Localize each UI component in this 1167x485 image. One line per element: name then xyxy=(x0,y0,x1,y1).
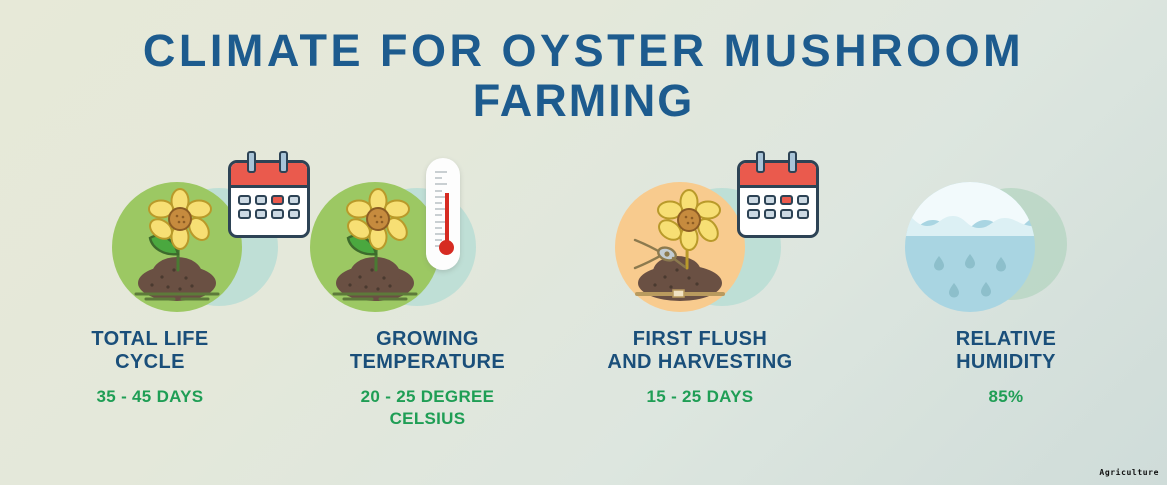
calendar-cell xyxy=(764,209,777,219)
heading-line-1: GROWING xyxy=(300,328,555,351)
heading-line-1: FIRST FLUSH xyxy=(555,328,845,351)
cloud-raindrops xyxy=(905,182,1035,312)
pruning-shears-flower-icon xyxy=(615,182,745,312)
label-heading: FIRST FLUSH AND HARVESTING xyxy=(555,328,845,374)
rain-cloud-humidity-icon xyxy=(905,182,1035,312)
label-heading: GROWING TEMPERATURE xyxy=(300,328,555,374)
label-relative-humidity: RELATIVE HUMIDITY 85% xyxy=(845,328,1167,430)
icon-row xyxy=(0,140,1167,340)
title-line-1: CLIMATE FOR OYSTER MUSHROOM xyxy=(0,26,1167,76)
calendar-cell xyxy=(747,209,760,219)
heading-line-2: HUMIDITY xyxy=(845,351,1167,374)
label-first-flush: FIRST FLUSH AND HARVESTING 15 - 25 DAYS xyxy=(555,328,845,430)
label-row: TOTAL LIFE CYCLE 35 - 45 DAYS GROWING TE… xyxy=(0,328,1167,430)
heading-line-2: TEMPERATURE xyxy=(300,351,555,374)
calendar-cell xyxy=(797,209,810,219)
calendar-icon xyxy=(228,160,310,238)
calendar-cell xyxy=(764,195,777,205)
heading-line-2: CYCLE xyxy=(0,351,300,374)
icon-cluster-growing-temperature xyxy=(300,140,555,340)
label-heading: TOTAL LIFE CYCLE xyxy=(0,328,300,374)
page-title: CLIMATE FOR OYSTER MUSHROOM FARMING xyxy=(0,0,1167,126)
value-line-2: CELSIUS xyxy=(300,408,555,430)
calendar-ring xyxy=(788,151,797,173)
calendar-ring xyxy=(247,151,256,173)
calendar-cell xyxy=(238,209,251,219)
label-value: 85% xyxy=(845,386,1167,408)
calendar-grid xyxy=(231,188,307,225)
calendar-cell xyxy=(238,195,251,205)
calendar-body xyxy=(737,160,819,238)
seedling-flower-icon xyxy=(112,182,242,312)
calendar-cell-highlight xyxy=(271,195,284,205)
calendar-cell xyxy=(271,209,284,219)
label-growing-temperature: GROWING TEMPERATURE 20 - 25 DEGREE CELSI… xyxy=(300,328,555,430)
value-line-1: 20 - 25 DEGREE xyxy=(300,386,555,408)
icon-cluster-total-life-cycle xyxy=(0,140,300,340)
label-value: 15 - 25 DAYS xyxy=(555,386,845,408)
calendar-cell xyxy=(797,195,810,205)
label-value: 20 - 25 DEGREE CELSIUS xyxy=(300,386,555,430)
plant-illustration xyxy=(112,182,242,312)
heading-line-2: AND HARVESTING xyxy=(555,351,845,374)
thermometer-icon xyxy=(426,158,460,270)
thermometer-bulb xyxy=(439,240,454,255)
label-total-life-cycle: TOTAL LIFE CYCLE 35 - 45 DAYS xyxy=(0,328,300,430)
calendar-cell xyxy=(288,195,301,205)
watermark: Agriculture xyxy=(1099,468,1159,477)
calendar-cell xyxy=(747,195,760,205)
calendar-body xyxy=(228,160,310,238)
calendar-grid xyxy=(740,188,816,225)
label-value: 35 - 45 DAYS xyxy=(0,386,300,408)
calendar-ring xyxy=(279,151,288,173)
icon-cluster-first-flush xyxy=(555,140,845,340)
calendar-header xyxy=(231,163,307,188)
calendar-cell xyxy=(255,209,268,219)
heading-line-1: RELATIVE xyxy=(845,328,1167,351)
heading-line-1: TOTAL LIFE xyxy=(0,328,300,351)
label-heading: RELATIVE HUMIDITY xyxy=(845,328,1167,374)
icon-cluster-relative-humidity xyxy=(845,140,1167,340)
calendar-icon xyxy=(737,160,819,238)
harvest-illustration xyxy=(615,182,745,312)
seedling-flower-icon xyxy=(310,182,440,312)
calendar-cell-highlight xyxy=(780,195,793,205)
calendar-cell xyxy=(288,209,301,219)
plant-illustration xyxy=(310,182,440,312)
raindrops xyxy=(934,254,1006,298)
calendar-cell xyxy=(780,209,793,219)
title-line-2: FARMING xyxy=(0,76,1167,126)
calendar-header xyxy=(740,163,816,188)
thermometer-mercury xyxy=(445,193,449,245)
calendar-cell xyxy=(255,195,268,205)
calendar-ring xyxy=(756,151,765,173)
